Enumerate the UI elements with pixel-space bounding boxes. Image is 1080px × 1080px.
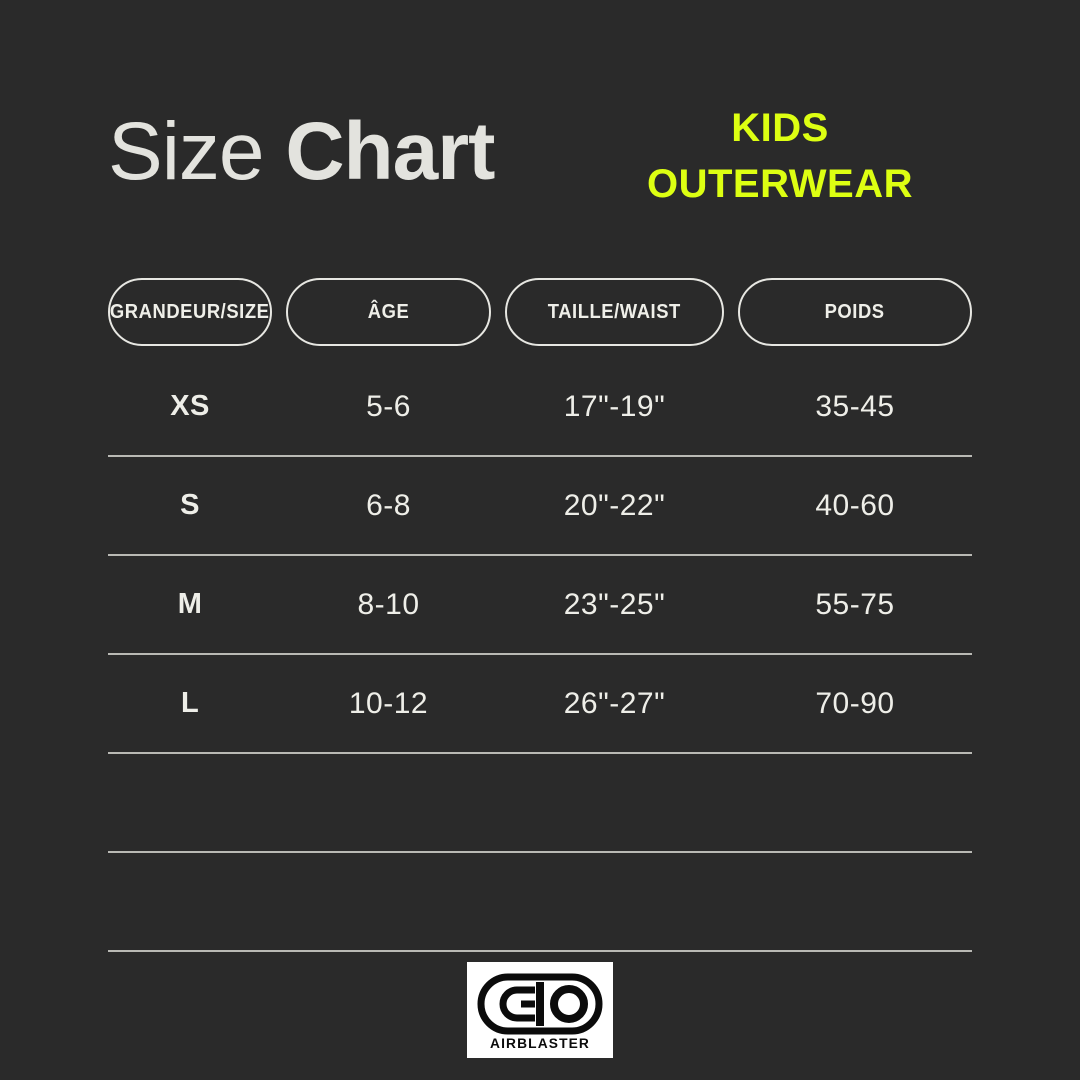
cell-age <box>286 754 505 851</box>
page-title-light: Size <box>108 106 264 197</box>
table-row: L 10-12 26"-27" 70-90 <box>108 655 972 754</box>
cell-size: XS <box>108 358 286 455</box>
column-header-age: ÂGE <box>286 278 505 346</box>
cell-age: 5-6 <box>286 358 505 455</box>
column-header-label-age: ÂGE <box>368 301 410 324</box>
cell-weight: 40-60 <box>738 457 972 554</box>
table-row: XS 5-6 17"-19" 35-45 <box>108 358 972 457</box>
footer-logo-area: AIRBLASTER <box>0 962 1080 1058</box>
cell-weight <box>738 754 972 851</box>
cell-size: L <box>108 655 286 752</box>
kicker-line-2: OUTERWEAR <box>600 156 960 212</box>
page-title: Size Chart <box>108 104 494 200</box>
airblaster-wordmark: AIRBLASTER <box>490 1036 590 1052</box>
column-header-weight: POIDS <box>738 278 972 346</box>
column-header-label-weight: POIDS <box>825 301 885 324</box>
cell-size <box>108 754 286 851</box>
cell-size: M <box>108 556 286 653</box>
table-row: M 8-10 23"-25" 55-75 <box>108 556 972 655</box>
table-body: XS 5-6 17"-19" 35-45 S 6-8 20"-22" 40-60… <box>108 358 972 952</box>
table-row <box>108 754 972 853</box>
table-header-row: GRANDEUR/SIZE ÂGE TAILLE/WAIST POIDS <box>108 278 972 346</box>
cell-waist: 20"-22" <box>505 457 738 554</box>
pill-waist: TAILLE/WAIST <box>505 278 724 346</box>
airblaster-mark-icon <box>477 973 603 1035</box>
category-kicker: KIDS OUTERWEAR <box>600 100 960 212</box>
cell-waist: 26"-27" <box>505 655 738 752</box>
page-title-bold: Chart <box>285 106 494 197</box>
cell-size: S <box>108 457 286 554</box>
kicker-line-1: KIDS <box>600 100 960 156</box>
cell-weight: 55-75 <box>738 556 972 653</box>
column-header-label-waist: TAILLE/WAIST <box>548 301 681 324</box>
cell-age: 10-12 <box>286 655 505 752</box>
cell-weight <box>738 853 972 950</box>
cell-waist <box>505 853 738 950</box>
pill-weight: POIDS <box>738 278 972 346</box>
cell-size <box>108 853 286 950</box>
size-chart-page: Size Chart KIDS OUTERWEAR GRANDEUR/SIZE … <box>0 0 1080 1080</box>
cell-age: 8-10 <box>286 556 505 653</box>
pill-age: ÂGE <box>286 278 491 346</box>
column-header-label-size: GRANDEUR/SIZE <box>110 301 270 324</box>
table-row: S 6-8 20"-22" 40-60 <box>108 457 972 556</box>
table-row <box>108 853 972 952</box>
page-header: Size Chart KIDS OUTERWEAR <box>0 0 1080 250</box>
pill-size: GRANDEUR/SIZE <box>108 278 272 346</box>
column-header-waist: TAILLE/WAIST <box>505 278 738 346</box>
cell-waist <box>505 754 738 851</box>
column-header-size: GRANDEUR/SIZE <box>108 278 286 346</box>
cell-weight: 70-90 <box>738 655 972 752</box>
cell-weight: 35-45 <box>738 358 972 455</box>
size-chart-table: GRANDEUR/SIZE ÂGE TAILLE/WAIST POIDS <box>108 278 972 346</box>
cell-waist: 17"-19" <box>505 358 738 455</box>
cell-waist: 23"-25" <box>505 556 738 653</box>
cell-age <box>286 853 505 950</box>
airblaster-logo: AIRBLASTER <box>467 962 613 1058</box>
cell-age: 6-8 <box>286 457 505 554</box>
